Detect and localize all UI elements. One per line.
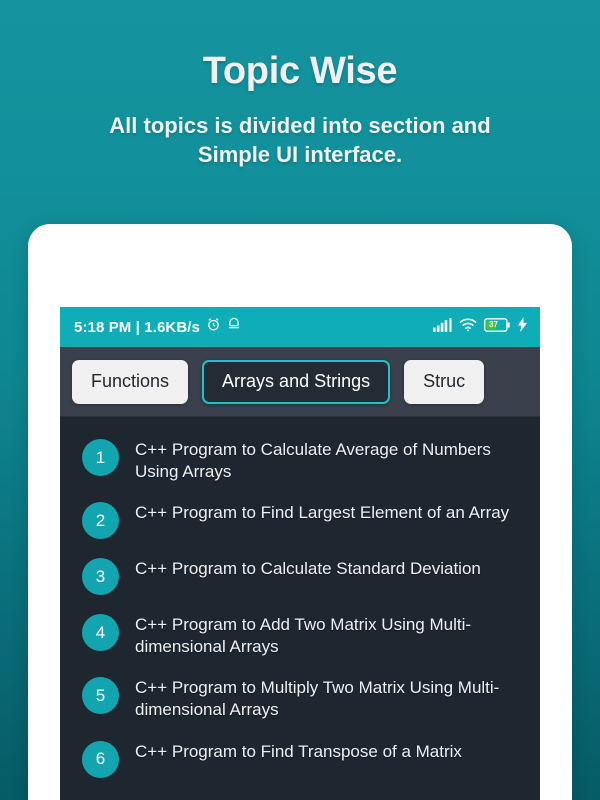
do-not-disturb-icon: [227, 317, 241, 337]
topic-tab-strip[interactable]: Functions Arrays and Strings Struc: [60, 347, 540, 417]
list-item[interactable]: 1 C++ Program to Calculate Average of Nu…: [60, 429, 540, 492]
status-bar-left: 5:18 PM | 1.6KB/s: [74, 317, 241, 337]
item-title: C++ Program to Calculate Average of Numb…: [135, 438, 524, 483]
clock-text: 5:18 PM: [74, 319, 131, 336]
status-bar-right: 37: [433, 317, 528, 337]
status-bar-text: 5:18 PM | 1.6KB/s: [74, 319, 200, 336]
charging-bolt-icon: [517, 317, 528, 337]
list-item[interactable]: 4 C++ Program to Add Two Matrix Using Mu…: [60, 604, 540, 667]
wifi-icon: [459, 318, 477, 337]
item-title: C++ Program to Find Largest Element of a…: [135, 501, 509, 524]
promo-subtitle-line-1: All topics is divided into section and: [0, 111, 600, 140]
list-item[interactable]: 3 C++ Program to Calculate Standard Devi…: [60, 548, 540, 604]
tab-label: Struc: [423, 371, 465, 392]
item-number-badge: 6: [82, 741, 119, 778]
battery-icon: 37: [484, 318, 510, 337]
phone-screen: 5:18 PM | 1.6KB/s: [60, 307, 540, 800]
tab-structures[interactable]: Struc: [404, 360, 484, 404]
tab-arrays-and-strings[interactable]: Arrays and Strings: [202, 360, 390, 404]
promo-subtitle-line-2: Simple UI interface.: [0, 140, 600, 169]
phone-mockup: 5:18 PM | 1.6KB/s: [28, 224, 572, 800]
item-number-badge: 5: [82, 677, 119, 714]
alarm-clock-icon: [206, 317, 221, 337]
item-number-badge: 2: [82, 502, 119, 539]
promo-header: Topic Wise All topics is divided into se…: [0, 0, 600, 169]
cellular-signal-icon: [433, 318, 452, 337]
list-item[interactable]: 5 C++ Program to Multiply Two Matrix Usi…: [60, 667, 540, 730]
item-title: C++ Program to Multiply Two Matrix Using…: [135, 676, 524, 721]
page-title: Topic Wise: [0, 50, 600, 93]
item-number-badge: 4: [82, 614, 119, 651]
list-item[interactable]: 2 C++ Program to Find Largest Element of…: [60, 492, 540, 548]
tab-label: Functions: [91, 371, 169, 392]
item-title: C++ Program to Find Transpose of a Matri…: [135, 740, 462, 763]
program-list[interactable]: 1 C++ Program to Calculate Average of Nu…: [60, 417, 540, 800]
item-number-badge: 1: [82, 439, 119, 476]
tab-functions[interactable]: Functions: [72, 360, 188, 404]
network-speed-text: 1.6KB/s: [144, 319, 200, 336]
list-item[interactable]: 6 C++ Program to Find Transpose of a Mat…: [60, 731, 540, 787]
promo-screenshot: Topic Wise All topics is divided into se…: [0, 0, 600, 800]
item-title: C++ Program to Add Two Matrix Using Mult…: [135, 613, 524, 658]
android-status-bar: 5:18 PM | 1.6KB/s: [60, 307, 540, 347]
item-title: C++ Program to Calculate Standard Deviat…: [135, 557, 481, 580]
battery-percent-label: 37: [487, 318, 500, 332]
item-number-badge: 3: [82, 558, 119, 595]
tab-label: Arrays and Strings: [222, 371, 370, 392]
status-separator: |: [136, 319, 140, 336]
promo-subtitle: All topics is divided into section and S…: [0, 111, 600, 169]
